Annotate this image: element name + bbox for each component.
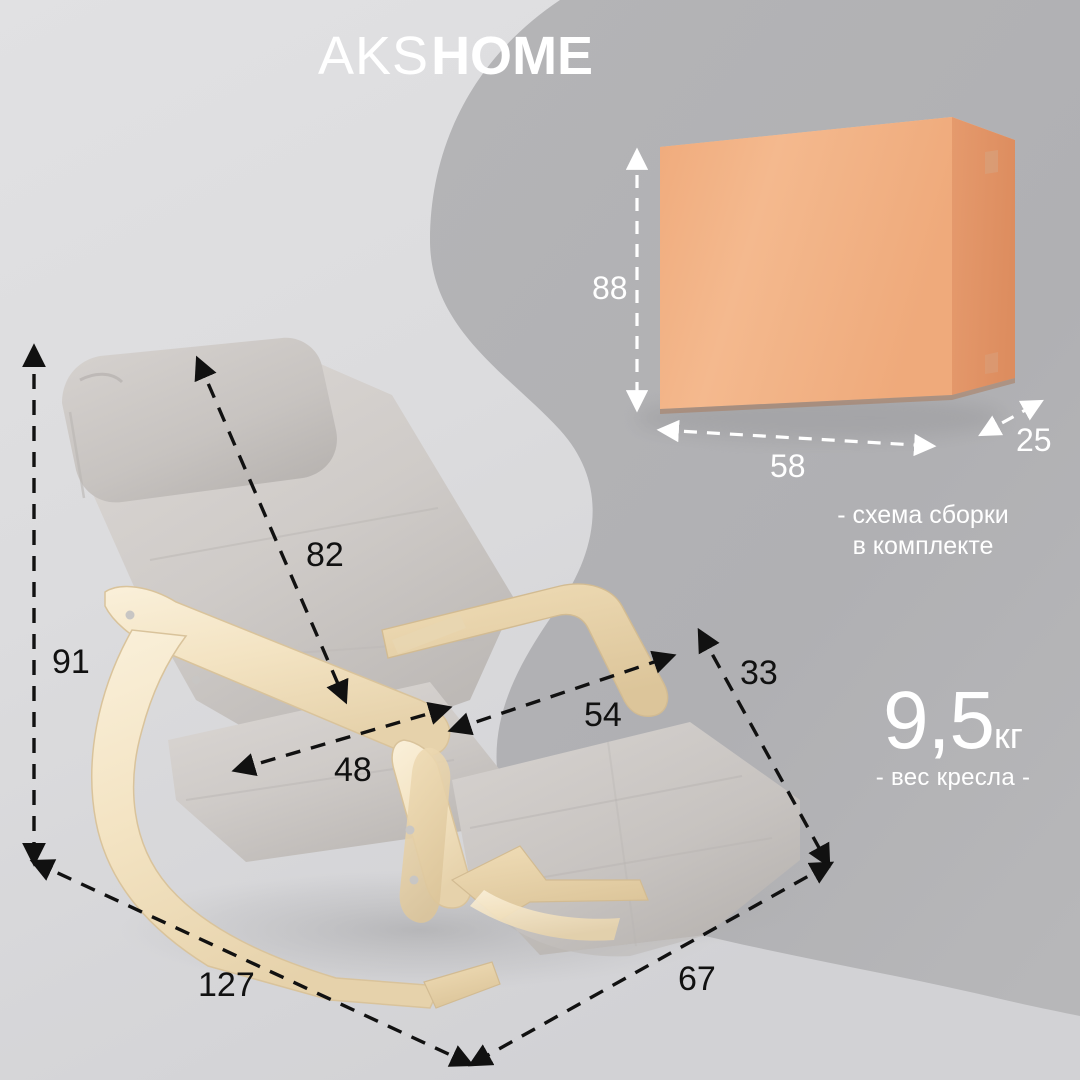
footrest-brace xyxy=(470,890,620,941)
headrest-seam xyxy=(70,412,84,498)
dimension-label-footrest-length: 54 xyxy=(584,698,622,732)
box-top-face xyxy=(660,117,1015,172)
weight-unit: кг xyxy=(994,715,1023,756)
cushion-seam xyxy=(150,508,438,560)
dim-line-total-length xyxy=(34,862,470,1064)
box-notch-top xyxy=(985,150,998,174)
rocker-runner xyxy=(92,630,440,1008)
right-armrest xyxy=(382,584,668,716)
screw xyxy=(410,876,419,885)
dim-line-back-height xyxy=(198,360,345,700)
footrest-bracket xyxy=(452,846,648,920)
infographic-canvas: AKS HOME xyxy=(0,0,1080,1080)
dimension-label-back-height: 82 xyxy=(306,538,344,572)
dim-line-total-width xyxy=(472,864,830,1064)
dimension-label-box-depth: 25 xyxy=(1016,424,1052,456)
screw xyxy=(406,826,415,835)
dim-line-box-width xyxy=(661,430,932,446)
seat-seam xyxy=(186,760,454,800)
screw xyxy=(126,611,135,620)
dimension-label-seat-depth: 48 xyxy=(334,753,372,787)
dimension-label-box-width: 58 xyxy=(770,450,806,482)
assembly-note-line2: в комплекте xyxy=(798,531,1048,562)
footrest-seam xyxy=(470,776,742,828)
logo-text-aks: AKS xyxy=(318,29,429,83)
front-post xyxy=(392,740,471,908)
brand-logo: AKS HOME xyxy=(318,26,718,86)
footrest-seam xyxy=(492,838,772,886)
dim-line-footrest-length xyxy=(452,656,672,730)
backrest-cushion xyxy=(92,355,515,760)
weight-value-row: 9,5кг xyxy=(838,682,1068,760)
footrest-seam xyxy=(608,742,636,946)
rocker-foot xyxy=(424,962,500,1008)
box-notch-bottom xyxy=(985,352,998,374)
dimension-label-total-width: 67 xyxy=(678,962,716,996)
box-front-face xyxy=(660,117,952,409)
box-side-face xyxy=(952,117,1015,395)
dimension-label-box-height: 88 xyxy=(592,272,628,304)
headrest-pillow xyxy=(62,338,337,503)
weight-block: 9,5кг - вес кресла - xyxy=(838,682,1068,792)
dimension-label-total-length: 127 xyxy=(198,968,255,1002)
weight-value: 9,5 xyxy=(883,675,994,766)
cushion-seam xyxy=(200,640,474,660)
box-bottom-edge xyxy=(660,378,1015,414)
footrest-cushion xyxy=(452,722,800,955)
weight-caption: - вес кресла - xyxy=(838,764,1068,792)
rear-support-leg xyxy=(400,748,451,923)
dimension-label-height: 91 xyxy=(52,645,90,679)
screw xyxy=(192,676,200,684)
assembly-note-line1: - схема сборки xyxy=(798,500,1048,531)
left-armrest xyxy=(105,587,450,757)
headrest-tie xyxy=(80,374,122,382)
dimension-label-footrest-width: 33 xyxy=(740,656,778,690)
armrest-strut xyxy=(392,614,466,654)
assembly-note: - схема сборки в комплекте xyxy=(798,500,1048,563)
logo-text-home: HOME xyxy=(431,29,593,83)
